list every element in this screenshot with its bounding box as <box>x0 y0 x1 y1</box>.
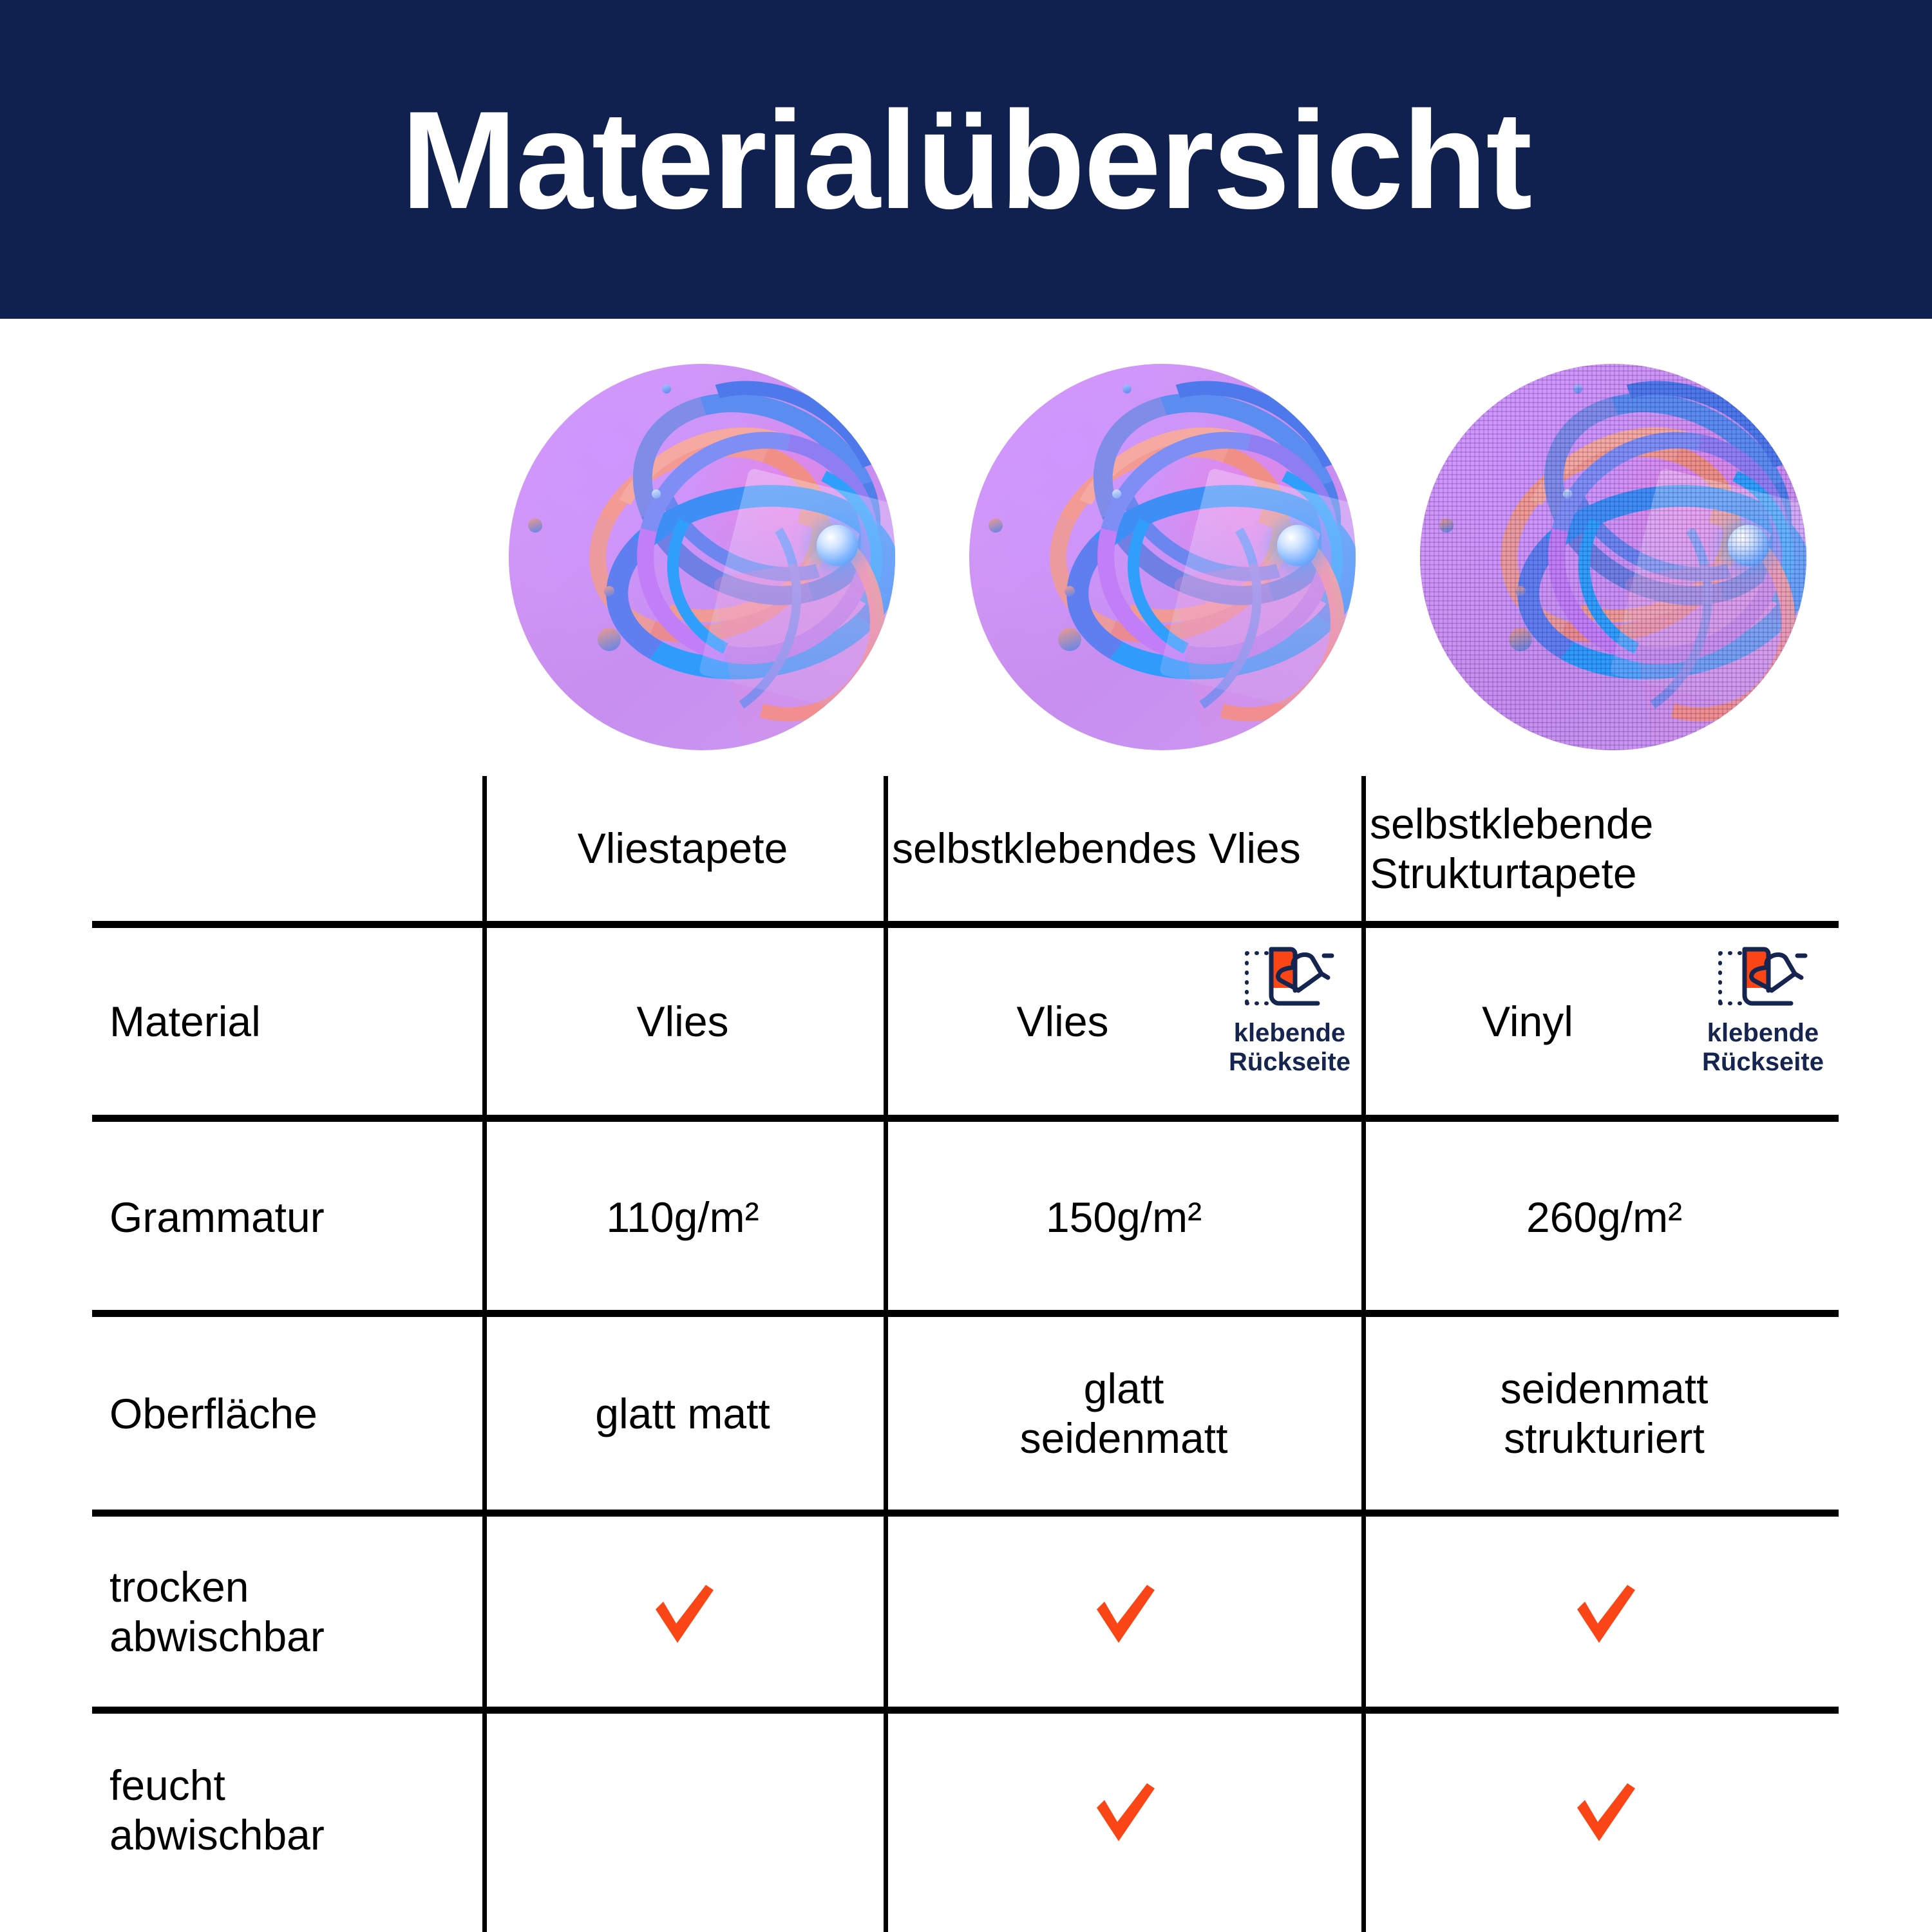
cell-grammatur-1: 110g/m² <box>489 1124 876 1311</box>
column-divider-1 <box>482 776 487 1932</box>
cell-grammatur-2: 150g/m² <box>892 1124 1356 1311</box>
cell-feucht-2 <box>892 1714 1356 1907</box>
cell-trocken-3 <box>1370 1517 1839 1707</box>
row-divider-trocken <box>92 1707 1839 1714</box>
column-header-label: Vliestapete <box>578 824 788 873</box>
sticky-backing-badge-col2: klebende Rückseite <box>1214 939 1365 1077</box>
column-header-label: selbstklebendes Vlies <box>892 824 1301 873</box>
row-divider-grammatur <box>92 1310 1839 1317</box>
comparison-table: Vliestapete selbstklebendes Vlies selbst… <box>0 0 1932 1932</box>
checkmark-icon <box>1566 1573 1643 1651</box>
cell-material-1: Vlies <box>489 928 876 1115</box>
cell-material-2: Vlies <box>892 928 1233 1115</box>
cell-oberflaeche-3: seidenmatt strukturiert <box>1370 1318 1839 1510</box>
cell-material-3: Vinyl <box>1370 928 1685 1115</box>
material-overview-page: Materialübersicht <box>0 0 1932 1932</box>
row-divider-header <box>92 921 1839 928</box>
row-label-trocken-abwischbar: trockenabwischbar <box>109 1517 470 1707</box>
row-divider-material <box>92 1115 1839 1122</box>
sticky-badge-text: klebende Rückseite <box>1229 1019 1350 1077</box>
cell-feucht-3 <box>1370 1714 1839 1907</box>
row-divider-oberflaeche <box>92 1510 1839 1517</box>
peel-adhesive-backing-icon <box>1242 939 1338 1015</box>
column-divider-2 <box>884 776 888 1932</box>
row-label-grammatur: Grammatur <box>109 1124 470 1311</box>
cell-grammatur-3: 260g/m² <box>1370 1124 1839 1311</box>
cell-trocken-1 <box>489 1517 876 1707</box>
row-label-oberflaeche: Oberfläche <box>109 1318 470 1510</box>
row-label-feucht-abwischbar: feuchtabwischbar <box>109 1714 470 1907</box>
peel-adhesive-backing-icon <box>1715 939 1812 1015</box>
column-header-label: selbstklebende Strukturtapete <box>1370 799 1839 898</box>
cell-trocken-2 <box>892 1517 1356 1707</box>
checkmark-icon <box>1085 1772 1162 1849</box>
column-header-2: selbstklebendes Vlies <box>892 776 1356 921</box>
cell-feucht-1 <box>489 1714 876 1907</box>
checkmark-icon <box>1566 1772 1643 1849</box>
sticky-backing-badge-col3: klebende Rückseite <box>1687 939 1839 1077</box>
column-header-1: Vliestapete <box>489 776 876 921</box>
cell-oberflaeche-2: glatt seidenmatt <box>892 1318 1356 1510</box>
sticky-badge-text: klebende Rückseite <box>1702 1019 1824 1077</box>
row-label-material: Material <box>109 928 470 1115</box>
column-header-3: selbstklebende Strukturtapete <box>1370 776 1839 921</box>
checkmark-icon <box>644 1573 721 1651</box>
cell-oberflaeche-1: glatt matt <box>489 1318 876 1510</box>
checkmark-icon <box>1085 1573 1162 1651</box>
